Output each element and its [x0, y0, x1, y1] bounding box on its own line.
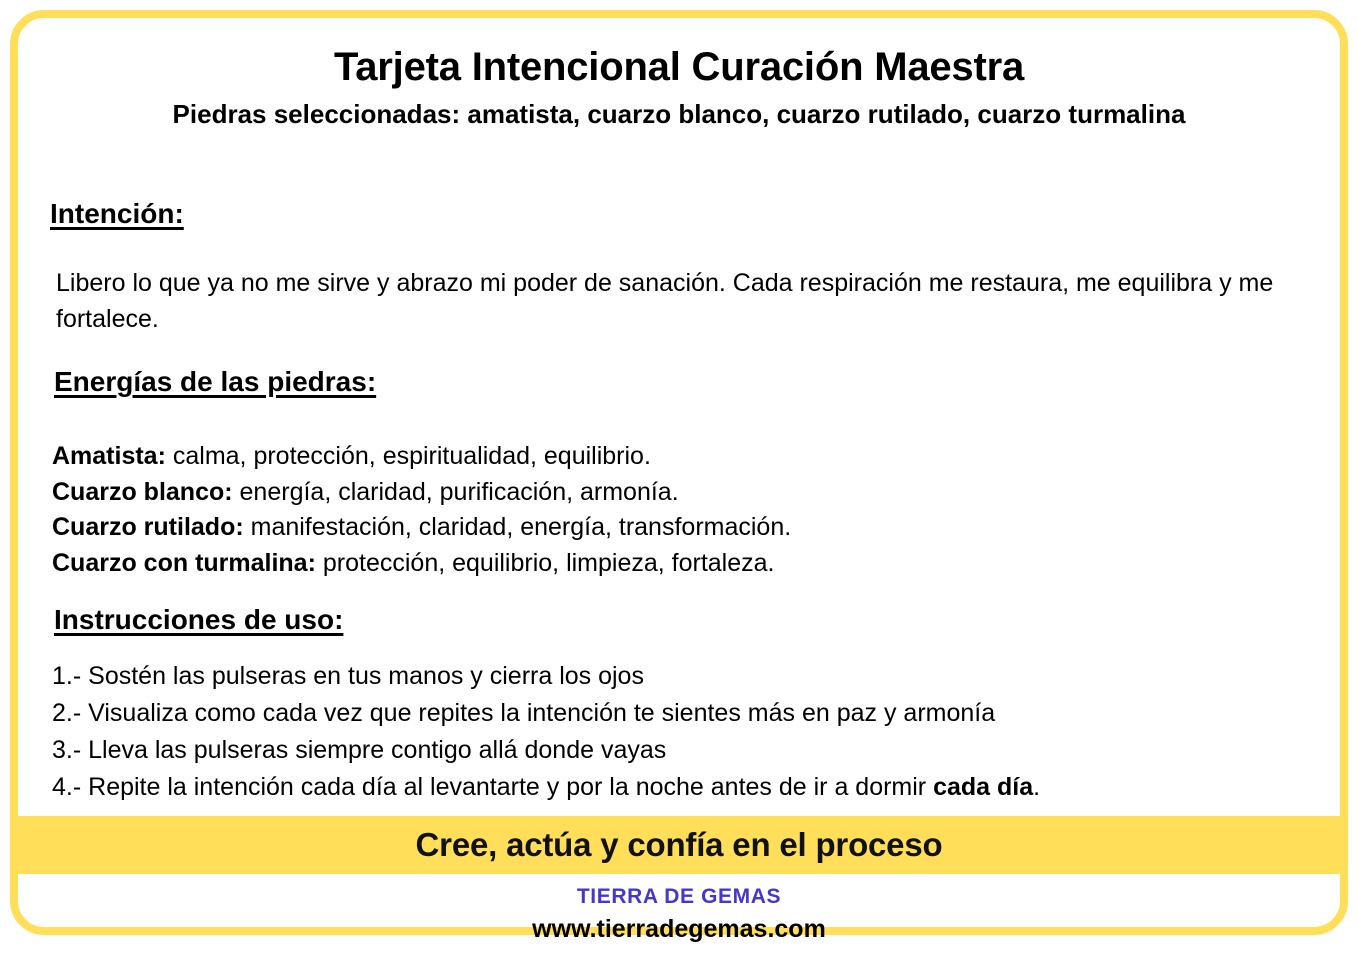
list-item: 3.- Lleva las pulseras siempre contigo a…	[52, 732, 1312, 769]
step-emphasis: cada día	[933, 773, 1033, 801]
step-text: Sostén las pulseras en tus manos y cierr…	[88, 662, 644, 690]
step-number: 2.-	[52, 699, 81, 727]
affirmation-banner: Cree, actúa y confía en el proceso	[10, 816, 1348, 874]
stone-name: Amatista:	[52, 442, 166, 470]
stone-description: energía, claridad, purificación, armonía…	[240, 478, 679, 506]
list-item: Cuarzo blanco: energía, claridad, purifi…	[52, 475, 1292, 511]
instructions-list: 1.- Sostén las pulseras en tus manos y c…	[52, 658, 1312, 806]
list-item: Amatista: calma, protección, espirituali…	[52, 439, 1292, 475]
step-tail: .	[1033, 773, 1040, 801]
page-title: Tarjeta Intencional Curación Maestra	[18, 46, 1340, 88]
stone-description: calma, protección, espiritualidad, equil…	[173, 442, 651, 470]
brand-name: TIERRA DE GEMAS	[18, 884, 1340, 910]
stone-description: manifestación, claridad, energía, transf…	[251, 513, 792, 541]
list-item: 4.- Repite la intención cada día al leva…	[52, 769, 1312, 806]
stone-description: protección, equilibrio, limpieza, fortal…	[323, 549, 775, 577]
intention-text: Libero lo que ya no me sirve y abrazo mi…	[56, 266, 1311, 337]
step-text: Repite la intención cada día al levantar…	[88, 773, 926, 801]
list-item: 2.- Visualiza como cada vez que repites …	[52, 695, 1312, 732]
list-item: Cuarzo con turmalina: protección, equili…	[52, 546, 1292, 582]
website-url: www.tierradegemas.com	[18, 914, 1340, 945]
intention-heading: Intención:	[50, 198, 184, 230]
stone-name: Cuarzo rutilado:	[52, 513, 244, 541]
stone-name: Cuarzo blanco:	[52, 478, 233, 506]
energies-heading: Energías de las piedras:	[54, 366, 376, 398]
step-number: 3.-	[52, 736, 81, 764]
selected-stones-subtitle: Piedras seleccionadas: amatista, cuarzo …	[18, 100, 1340, 130]
stone-energies-list: Amatista: calma, protección, espirituali…	[52, 439, 1292, 581]
instructions-heading: Instrucciones de uso:	[54, 604, 343, 636]
list-item: 1.- Sostén las pulseras en tus manos y c…	[52, 658, 1312, 695]
affirmation-text: Cree, actúa y confía en el proceso	[416, 826, 943, 864]
list-item: Cuarzo rutilado: manifestación, claridad…	[52, 510, 1292, 546]
step-number: 4.-	[52, 773, 81, 801]
intention-card: Tarjeta Intencional Curación Maestra Pie…	[10, 10, 1348, 935]
stone-name: Cuarzo con turmalina:	[52, 549, 316, 577]
footer: TIERRA DE GEMAS www.tierradegemas.com	[18, 884, 1340, 946]
card-inner: Tarjeta Intencional Curación Maestra Pie…	[18, 46, 1340, 955]
step-text: Lleva las pulseras siempre contigo allá …	[88, 736, 666, 764]
step-text: Visualiza como cada vez que repites la i…	[88, 699, 995, 727]
step-number: 1.-	[52, 662, 81, 690]
